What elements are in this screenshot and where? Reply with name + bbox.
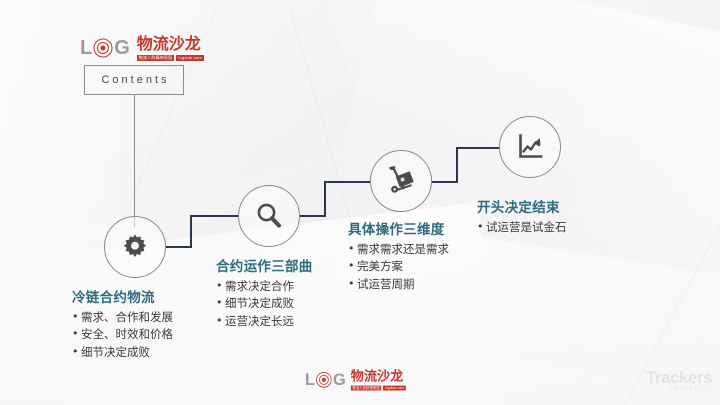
step-bullets-2: 需求决定合作 细节决定成败 运营决定长远 (216, 278, 313, 330)
contents-box: Contents (84, 65, 184, 95)
step-block-1: 冷链合约物流 需求、合作和发展 安全、时效和价格 细节决定成败 (72, 286, 173, 361)
logo-tagline-left: 物流人的精神家园 (351, 385, 382, 390)
connector-2-segment-h1 (300, 215, 326, 217)
logo-letter-g: G (333, 372, 346, 388)
list-item: 运营决定长远 (216, 313, 313, 330)
list-item: 需求决定合作 (216, 278, 313, 295)
watermark-subtext: LOGISTICS (646, 387, 712, 393)
connector-3-segment-h2 (456, 147, 499, 149)
list-item: 需求需求还是需求 (348, 241, 449, 258)
connector-1-segment-h2 (190, 215, 238, 217)
step-node-1[interactable] (104, 216, 166, 278)
logo-tagline-right: logclub.com (383, 385, 406, 390)
hand-truck-icon (384, 164, 418, 198)
step-bullets-4: 试运营是试金石 (477, 219, 567, 236)
watermark: Trackers LOGISTICS (646, 369, 712, 393)
connector-2-segment-v (324, 181, 326, 217)
logo-tagline: 物流人的精神家园 logclub.com (351, 385, 406, 390)
step-node-3[interactable] (370, 150, 432, 212)
step-block-3: 具体操作三维度 需求需求还是需求 完美方案 试运营周期 (348, 218, 449, 293)
connector-2-segment-h2 (324, 181, 370, 183)
connector-1-segment-h1 (166, 246, 192, 248)
logo-chinese-name: 物流沙龙 (351, 370, 403, 384)
logo-letter-g: G (114, 38, 130, 58)
brand-logo-top: L G 物流沙龙 物流人的精神家园 logclub.com (80, 36, 204, 61)
contents-label: Contents (98, 74, 169, 86)
connector-3-segment-h1 (432, 181, 458, 183)
list-item: 需求、合作和发展 (72, 309, 173, 326)
slide-canvas: L G 物流沙龙 物流人的精神家园 logclub.com Contents (0, 0, 720, 405)
target-rings-icon (93, 38, 113, 58)
connector-1-segment-v (190, 216, 192, 248)
logo-tagline-left: 物流人的精神家园 (137, 55, 175, 61)
step-title-2: 合约运作三部曲 (216, 255, 313, 275)
logo-chinese-group: 物流沙龙 物流人的精神家园 logclub.com (137, 36, 204, 61)
logo-wordmark-bottom: L G (305, 372, 346, 388)
step-bullets-1: 需求、合作和发展 安全、时效和价格 细节决定成败 (72, 309, 173, 361)
magnifier-icon (253, 200, 285, 232)
connector-3-segment-v (456, 147, 458, 183)
step-node-4[interactable] (499, 116, 561, 178)
step-title-4: 开头决定结束 (477, 196, 567, 216)
step-block-4: 开头决定结束 试运营是试金石 (477, 196, 567, 236)
background-line-1 (127, 0, 234, 209)
logo-letter-l: L (305, 372, 315, 388)
growth-chart-icon (514, 131, 546, 163)
target-rings-icon (316, 372, 332, 388)
step-title-3: 具体操作三维度 (348, 218, 449, 238)
step-node-2[interactable] (238, 185, 300, 247)
list-item: 细节决定成败 (72, 344, 173, 361)
list-item: 细节决定成败 (216, 295, 313, 312)
logo-tagline: 物流人的精神家园 logclub.com (137, 55, 204, 61)
contents-connector-line (134, 95, 135, 227)
step-bullets-3: 需求需求还是需求 完美方案 试运营周期 (348, 241, 449, 293)
list-item: 试运营周期 (348, 276, 449, 293)
list-item: 完美方案 (348, 258, 449, 275)
step-title-1: 冷链合约物流 (72, 286, 173, 306)
brand-logo-bottom: L G 物流沙龙 物流人的精神家园 logclub.com (305, 370, 406, 390)
logo-tagline-right: logclub.com (176, 55, 204, 61)
logo-chinese-group-bottom: 物流沙龙 物流人的精神家园 logclub.com (351, 370, 406, 390)
logo-chinese-name: 物流沙龙 (137, 36, 201, 53)
watermark-text: Trackers (646, 368, 712, 387)
step-block-2: 合约运作三部曲 需求决定合作 细节决定成败 运营决定长远 (216, 255, 313, 330)
gear-icon (120, 232, 150, 262)
list-item: 试运营是试金石 (477, 219, 567, 236)
logo-letter-l: L (80, 38, 92, 58)
logo-wordmark: L G (80, 38, 130, 58)
list-item: 安全、时效和价格 (72, 326, 173, 343)
